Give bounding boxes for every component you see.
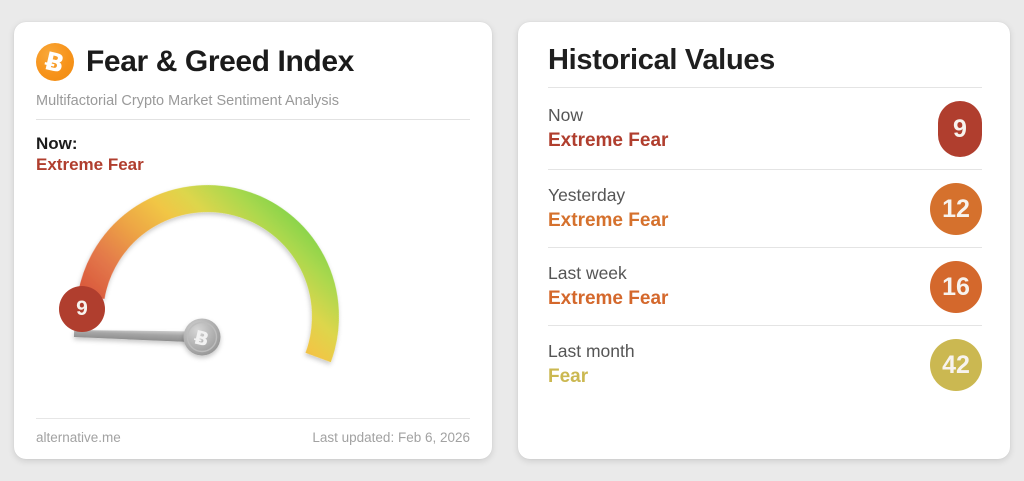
list-item: Yesterday Extreme Fear 12	[548, 169, 982, 247]
list-item: Last week Extreme Fear 16	[548, 247, 982, 325]
history-period-label: Last month	[548, 340, 635, 363]
gauge-needle	[74, 327, 202, 342]
history-period-label: Last week	[548, 262, 668, 285]
last-updated-label: Last updated: Feb 6, 2026	[312, 430, 470, 445]
history-classification-label: Extreme Fear	[548, 287, 668, 312]
history-row-texts: Now Extreme Fear	[548, 104, 668, 153]
fear-greed-gauge-card: Ƀ Fear & Greed Index Multifactorial Cryp…	[14, 22, 492, 459]
history-period-label: Yesterday	[548, 184, 668, 207]
history-row-texts: Yesterday Extreme Fear	[548, 184, 668, 233]
history-value-badge: 9	[938, 101, 982, 157]
page-root: Ƀ Fear & Greed Index Multifactorial Cryp…	[0, 0, 1024, 481]
history-classification-label: Fear	[548, 365, 635, 390]
history-value-badge: 16	[930, 261, 982, 313]
list-item: Last month Fear 42	[548, 325, 982, 403]
gauge-chart: Ƀ 9	[32, 179, 466, 414]
page-subtitle: Multifactorial Crypto Market Sentiment A…	[36, 93, 470, 120]
now-classification: Extreme Fear	[36, 154, 470, 177]
bitcoin-glyph: Ƀ	[43, 48, 67, 77]
history-value-badge: 12	[930, 183, 982, 235]
history-period-label: Now	[548, 104, 668, 127]
gauge-card-header: Ƀ Fear & Greed Index	[36, 40, 470, 84]
history-row-texts: Last week Extreme Fear	[548, 262, 668, 311]
gauge-score-badge: 9	[59, 286, 105, 332]
gauge-card-footer: alternative.me Last updated: Feb 6, 2026	[36, 418, 470, 445]
historical-values-card: Historical Values Now Extreme Fear 9 Yes…	[518, 22, 1010, 459]
history-row-texts: Last month Fear	[548, 340, 635, 389]
page-title: Fear & Greed Index	[86, 45, 354, 79]
history-classification-label: Extreme Fear	[548, 129, 668, 154]
list-item: Now Extreme Fear 9	[548, 87, 982, 169]
history-value-badge: 42	[930, 339, 982, 391]
source-label: alternative.me	[36, 430, 121, 445]
history-classification-label: Extreme Fear	[548, 209, 668, 234]
current-value-block: Now: Extreme Fear	[36, 133, 470, 177]
bitcoin-needle-hub-icon: Ƀ	[184, 319, 221, 356]
now-label: Now:	[36, 133, 470, 154]
bitcoin-icon: Ƀ	[36, 43, 74, 81]
history-title: Historical Values	[548, 44, 982, 77]
